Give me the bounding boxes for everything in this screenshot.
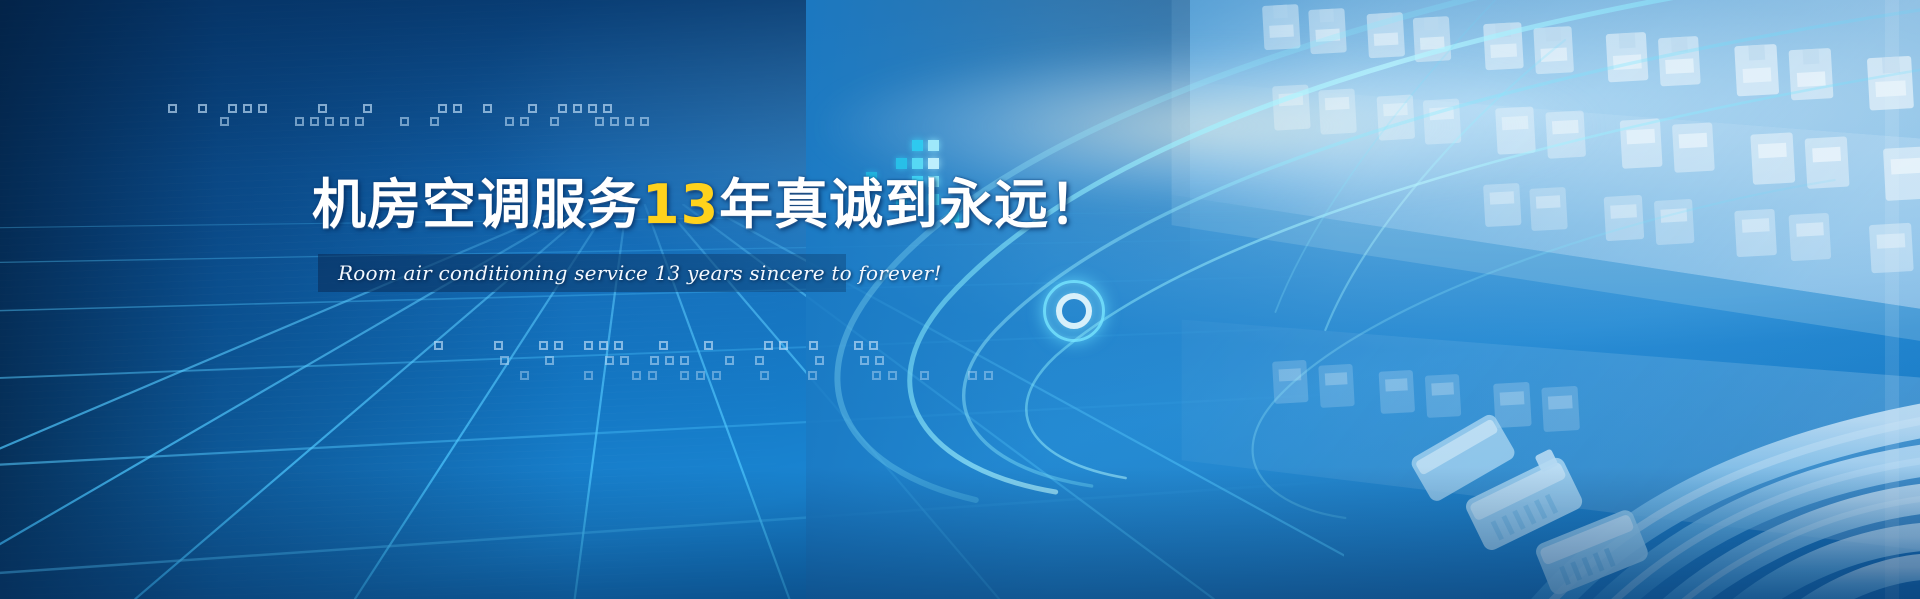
pixel-gap [565, 117, 574, 126]
pixel-gap [288, 104, 297, 113]
pixel-square [243, 104, 252, 113]
pixel-square [680, 371, 689, 380]
pixel-square [318, 104, 327, 113]
pixel-gap [524, 341, 533, 350]
pixel-gap [468, 104, 477, 113]
headline-suffix: 年真诚到永远！ [719, 173, 1104, 236]
pixel-gap [770, 356, 779, 365]
pixel-gap [464, 341, 473, 350]
pixel-square [584, 371, 593, 380]
pixel-square [400, 117, 409, 126]
pixel-square [648, 371, 657, 380]
pixel-square [632, 371, 641, 380]
pixel-gap [689, 341, 698, 350]
pixel-gap [616, 371, 625, 380]
pixel-gap [845, 356, 854, 365]
pixel-square [603, 104, 612, 113]
pixel-gap [664, 371, 673, 380]
pixel-square [494, 341, 503, 350]
pixel-gap [644, 341, 653, 350]
pixel-square [500, 356, 509, 365]
pixel-gap [905, 356, 914, 365]
pixel-square [325, 117, 334, 126]
pixel-gap [719, 341, 728, 350]
pixel-square [725, 356, 734, 365]
pixel-gap [370, 117, 379, 126]
pixel-square [558, 104, 567, 113]
pixel-square [340, 117, 349, 126]
pixel-gap [460, 117, 469, 126]
pixel-square [220, 117, 229, 126]
pixel-square [584, 341, 593, 350]
pixel-gap [235, 117, 244, 126]
pixel-square [599, 341, 608, 350]
pixel-square [968, 371, 977, 380]
pixel-gap [250, 117, 259, 126]
pixel-square [434, 341, 443, 350]
pixel-square [258, 104, 267, 113]
pixel-square [764, 341, 773, 350]
pixel-square [808, 371, 817, 380]
pixel-gap [498, 104, 507, 113]
pixel-square [755, 356, 764, 365]
pixel-gap [393, 104, 402, 113]
pixel-square [809, 341, 818, 350]
pixel-gap [840, 371, 849, 380]
pixel-square-row-bottom-2 [470, 356, 920, 365]
pixel-gap [348, 104, 357, 113]
pixel-gap [552, 371, 561, 380]
pixel-square [696, 371, 705, 380]
pixel-gap [740, 356, 749, 365]
pixel-square [614, 341, 623, 350]
pixel-square-row-top-2 [205, 117, 655, 126]
pixel-square [355, 117, 364, 126]
pixel-square [680, 356, 689, 365]
pixel-square [168, 104, 177, 113]
pixel-gap [543, 104, 552, 113]
pixel-gap [575, 356, 584, 365]
glowing-ring-inner [1056, 293, 1092, 329]
pixel-square [625, 117, 634, 126]
pixel-gap [568, 371, 577, 380]
headline-number: 13 [642, 173, 719, 236]
pixel-gap [513, 104, 522, 113]
pixel-gap [303, 104, 312, 113]
pixel-gap [728, 371, 737, 380]
pixel-square [815, 356, 824, 365]
pixel-gap [856, 371, 865, 380]
pixel-square [573, 104, 582, 113]
pixel-gap [629, 341, 638, 350]
pixel-square [520, 371, 529, 380]
background-bottom-shade [0, 467, 1920, 599]
pixel-square [650, 356, 659, 365]
pixel-square [869, 341, 878, 350]
pixel-gap [824, 341, 833, 350]
pixel-gap [830, 356, 839, 365]
pixel-square [554, 341, 563, 350]
pixel-gap [273, 104, 282, 113]
pixel-square [295, 117, 304, 126]
pixel-gap [408, 104, 417, 113]
pixel-gap [695, 356, 704, 365]
pixel-square [539, 341, 548, 350]
pixel-gap [536, 371, 545, 380]
pixel-square [528, 104, 537, 113]
pixel-gap [800, 356, 809, 365]
pixel-square [588, 104, 597, 113]
pixel-gap [385, 117, 394, 126]
pixel-gap [792, 371, 801, 380]
pixel-gap [744, 371, 753, 380]
pixel-gap [378, 104, 387, 113]
pixel-gap [490, 117, 499, 126]
pixel-gap [475, 117, 484, 126]
pixel-square [875, 356, 884, 365]
pixel-gap [535, 117, 544, 126]
pixel-gap [794, 341, 803, 350]
pixel-gap [213, 104, 222, 113]
pixel-gap [936, 371, 945, 380]
pixel-square [984, 371, 993, 380]
pixel-gap [423, 104, 432, 113]
pixel-square [610, 117, 619, 126]
pixel-square [545, 356, 554, 365]
subtitle: Room air conditioning service 13 years s… [338, 255, 942, 291]
pixel-square [430, 117, 439, 126]
pixel-gap [530, 356, 539, 365]
pixel-gap [265, 117, 274, 126]
pixel-gap [674, 341, 683, 350]
pixel-square [920, 371, 929, 380]
pixel-square [872, 371, 881, 380]
pixel-gap [734, 341, 743, 350]
pixel-square [712, 371, 721, 380]
pixel-square [854, 341, 863, 350]
headline: 机房空调服务13年真诚到永远！ [312, 160, 1104, 239]
pixel-square-row-top [168, 104, 618, 113]
hero-banner: 机房空调服务13年真诚到永远！ Room air conditioning se… [0, 0, 1920, 599]
pixel-gap [509, 341, 518, 350]
pixel-square-row-bottom [434, 341, 884, 350]
pixel-square [363, 104, 372, 113]
pixel-square [620, 356, 629, 365]
pixel-gap [485, 356, 494, 365]
pixel-gap [445, 117, 454, 126]
pixel-square [483, 104, 492, 113]
pixel-gap [600, 371, 609, 380]
pixel-square [595, 117, 604, 126]
pixel-gap [776, 371, 785, 380]
pixel-square [640, 117, 649, 126]
pixel-square [505, 117, 514, 126]
pixel-gap [449, 341, 458, 350]
pixel-gap [560, 356, 569, 365]
pixel-square [198, 104, 207, 113]
headline-prefix: 机房空调服务 [312, 173, 642, 236]
pixel-gap [280, 117, 289, 126]
pixel-gap [515, 356, 524, 365]
pixel-square [550, 117, 559, 126]
pixel-square [779, 341, 788, 350]
pixel-gap [590, 356, 599, 365]
pixel-square [888, 371, 897, 380]
pixel-square [453, 104, 462, 113]
pixel-gap [785, 356, 794, 365]
pixel-gap [580, 117, 589, 126]
pixel-square [659, 341, 668, 350]
pixel-square [310, 117, 319, 126]
pixel-gap [890, 356, 899, 365]
pixel-gap [904, 371, 913, 380]
pixel-gap [183, 104, 192, 113]
pixel-square [704, 341, 713, 350]
pixel-gap [710, 356, 719, 365]
pixel-square-row-bottom-3 [520, 371, 1000, 380]
pixel-gap [479, 341, 488, 350]
pixel-square [520, 117, 529, 126]
pixel-gap [333, 104, 342, 113]
pixel-gap [749, 341, 758, 350]
pixel-square [438, 104, 447, 113]
pixel-square [860, 356, 869, 365]
pixel-gap [415, 117, 424, 126]
pixel-square [760, 371, 769, 380]
pixel-gap [952, 371, 961, 380]
pixel-gap [839, 341, 848, 350]
pixel-gap [635, 356, 644, 365]
pixel-square [605, 356, 614, 365]
pixel-gap [824, 371, 833, 380]
pixel-gap [205, 117, 214, 126]
pixel-gap [569, 341, 578, 350]
pixel-gap [470, 356, 479, 365]
pixel-square [665, 356, 674, 365]
pixel-square [228, 104, 237, 113]
